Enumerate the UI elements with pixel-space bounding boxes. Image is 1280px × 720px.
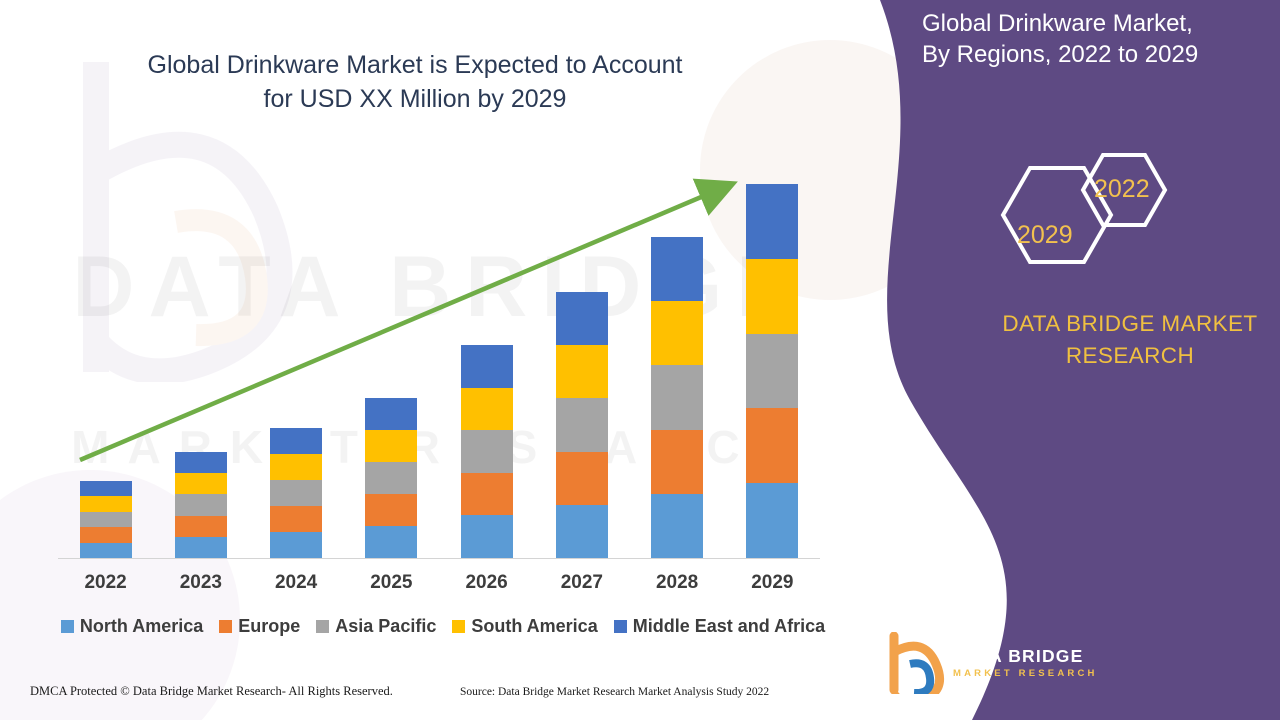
slide-root: DATA BRIDGE MARKET RESEARCH Global Drink…	[0, 0, 1280, 720]
bar-segment	[175, 452, 227, 473]
legend-label: Asia Pacific	[335, 616, 436, 637]
bar-segment	[175, 516, 227, 537]
bar-segment	[556, 398, 608, 451]
x-axis-label-2025: 2025	[344, 572, 439, 594]
bar-segment	[270, 428, 322, 454]
legend-label: South America	[471, 616, 597, 637]
bar-segment	[365, 398, 417, 430]
bar-segment	[270, 480, 322, 506]
bar-segment	[80, 481, 132, 496]
bar-column-2029	[725, 170, 820, 558]
panel-title-line-1: Global Drinkware Market,	[922, 8, 1280, 39]
stacked-bar	[270, 428, 322, 558]
stacked-bar	[175, 452, 227, 558]
bar-column-2028	[630, 170, 725, 558]
chart-title: Global Drinkware Market is Expected to A…	[60, 48, 770, 116]
bar-segment	[365, 526, 417, 558]
bar-segment	[556, 452, 608, 505]
bar-segment	[651, 237, 703, 301]
bar-segment	[461, 515, 513, 558]
legend-swatch-icon	[316, 620, 329, 633]
bar-segment	[556, 345, 608, 398]
bar-segment	[270, 506, 322, 532]
dbmr-logo-icon	[880, 632, 950, 694]
bar-segment	[651, 301, 703, 365]
legend-item[interactable]: Middle East and Africa	[614, 616, 825, 637]
bar-segment	[651, 494, 703, 558]
bar-segment	[175, 494, 227, 515]
bar-segment	[556, 292, 608, 345]
x-axis-label-2027: 2027	[534, 572, 629, 594]
stacked-bar	[651, 237, 703, 558]
stacked-bar	[461, 345, 513, 558]
stacked-bar	[556, 292, 608, 558]
x-axis-labels: 20222023202420252026202720282029	[58, 572, 820, 594]
footer-copyright: DMCA Protected © Data Bridge Market Rese…	[30, 684, 393, 699]
stacked-bar	[746, 184, 798, 558]
bar-segment	[365, 430, 417, 462]
bar-segment	[270, 532, 322, 558]
legend-label: Europe	[238, 616, 300, 637]
bar-segment	[651, 430, 703, 494]
chart-title-line-1: Global Drinkware Market is Expected to A…	[60, 48, 770, 82]
chart-legend: North AmericaEuropeAsia PacificSouth Ame…	[58, 616, 828, 637]
bar-column-2022	[58, 170, 153, 558]
legend-swatch-icon	[61, 620, 74, 633]
bar-segment	[80, 496, 132, 511]
bar-column-2024	[249, 170, 344, 558]
bar-segment	[80, 527, 132, 542]
legend-swatch-icon	[614, 620, 627, 633]
bar-segment	[461, 388, 513, 431]
bar-segment	[461, 430, 513, 473]
hexagon-group: 2029 2022	[975, 135, 1175, 300]
stacked-bar	[80, 481, 132, 558]
brand-name: DATA BRIDGE MARKET RESEARCH	[990, 308, 1270, 372]
footer-source: Source: Data Bridge Market Research Mark…	[460, 686, 769, 698]
bar-column-2027	[534, 170, 629, 558]
stacked-bar-chart	[58, 170, 820, 558]
bar-segment	[746, 483, 798, 558]
bar-segment	[746, 259, 798, 334]
bar-column-2023	[153, 170, 248, 558]
legend-label: North America	[80, 616, 203, 637]
bar-segment	[175, 537, 227, 558]
legend-item[interactable]: Europe	[219, 616, 300, 637]
x-axis-label-2022: 2022	[58, 572, 153, 594]
bar-segment	[746, 408, 798, 483]
legend-item[interactable]: Asia Pacific	[316, 616, 436, 637]
bar-column-2025	[344, 170, 439, 558]
bar-segment	[746, 184, 798, 259]
chart-baseline	[58, 558, 820, 559]
dbmr-logo-name: DATA BRIDGE	[952, 646, 1083, 667]
chart-title-line-2: for USD XX Million by 2029	[60, 82, 770, 116]
bar-segment	[365, 494, 417, 526]
legend-item[interactable]: North America	[61, 616, 203, 637]
hexagon-2029-label: 2029	[1017, 221, 1073, 250]
x-axis-label-2026: 2026	[439, 572, 534, 594]
x-axis-label-2024: 2024	[249, 572, 344, 594]
x-axis-label-2023: 2023	[153, 572, 248, 594]
stacked-bar	[365, 398, 417, 558]
bar-segment	[461, 473, 513, 516]
bar-segment	[746, 334, 798, 409]
brand-name-line-1: DATA BRIDGE MARKET	[990, 308, 1270, 340]
bar-segment	[365, 462, 417, 494]
bar-segment	[80, 512, 132, 527]
panel-title: Global Drinkware Market, By Regions, 202…	[900, 8, 1280, 70]
bar-segment	[651, 365, 703, 429]
brand-name-line-2: RESEARCH	[990, 340, 1270, 372]
bar-segment	[556, 505, 608, 558]
dbmr-logo-subname: MARKET RESEARCH	[953, 668, 1098, 679]
hexagon-2022-label: 2022	[1094, 175, 1150, 204]
bar-segment	[270, 454, 322, 480]
bar-column-2026	[439, 170, 534, 558]
bar-segment	[80, 543, 132, 558]
legend-item[interactable]: South America	[452, 616, 597, 637]
legend-label: Middle East and Africa	[633, 616, 825, 637]
legend-swatch-icon	[219, 620, 232, 633]
x-axis-label-2028: 2028	[630, 572, 725, 594]
bar-segment	[175, 473, 227, 494]
legend-swatch-icon	[452, 620, 465, 633]
x-axis-label-2029: 2029	[725, 572, 820, 594]
bar-segment	[461, 345, 513, 388]
panel-title-line-2: By Regions, 2022 to 2029	[922, 39, 1280, 70]
